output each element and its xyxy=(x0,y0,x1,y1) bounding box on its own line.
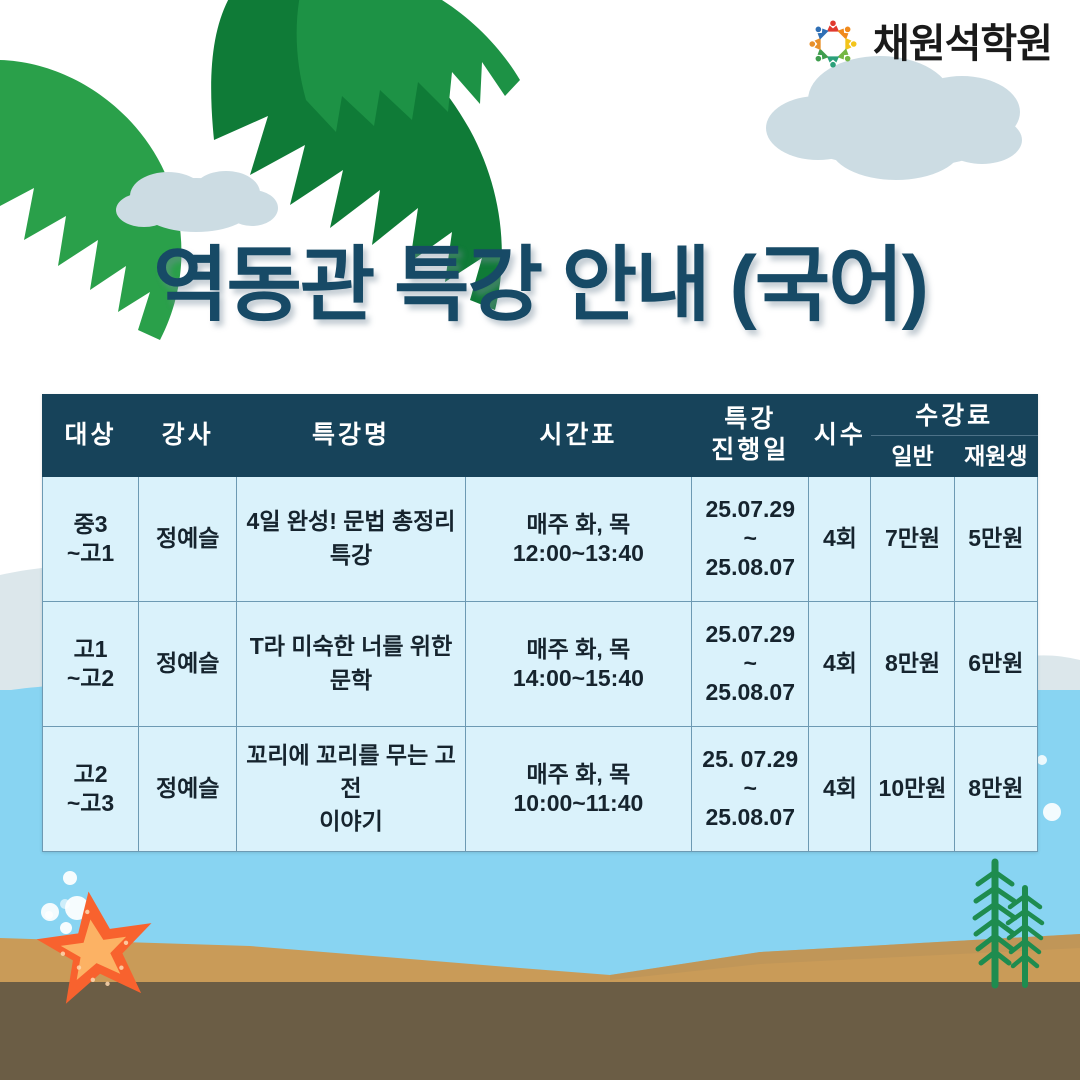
table-row: 중3 ~고1 정예슬 4일 완성! 문법 총정리 특강 매주 화, 목 12:0… xyxy=(43,476,1038,601)
schedule-table: 대상 강사 특강명 시간표 특강 진행일 시수 수강료 일반 재원생 xyxy=(42,394,1038,852)
col-header-course: 특강명 xyxy=(237,395,465,477)
cell-fee-general: 8만원 xyxy=(871,601,954,726)
sand-highlight xyxy=(610,934,1080,980)
date-start: 25.07.29 xyxy=(696,620,804,649)
circle-of-people-icon xyxy=(805,16,861,72)
col-header-target: 대상 xyxy=(43,395,139,477)
cell-course: 꼬리에 꼬리를 무는 고전 이야기 xyxy=(237,726,465,851)
cell-fee-enrolled: 6만원 xyxy=(954,601,1037,726)
cell-timetable: 매주 화, 목 14:00~15:40 xyxy=(465,601,691,726)
target-line2: ~고2 xyxy=(47,664,134,693)
seaweed-icon xyxy=(975,862,1042,985)
time-line1: 매주 화, 목 xyxy=(470,635,687,664)
brand-name: 채원석학원 xyxy=(873,24,1052,64)
cell-target: 고2 ~고3 xyxy=(43,726,139,851)
cloud-icon-small xyxy=(116,171,278,232)
table-row: 고1 ~고2 정예슬 T라 미숙한 너를 위한 문학 매주 화, 목 14:00… xyxy=(43,601,1038,726)
date-end: 25.08.07 xyxy=(696,678,804,707)
target-line1: 고1 xyxy=(47,635,134,664)
col-header-sessions: 시수 xyxy=(809,395,871,477)
target-line1: 고2 xyxy=(47,760,134,789)
cell-target: 중3 ~고1 xyxy=(43,476,139,601)
course-line1: T라 미숙한 너를 위한 문학 xyxy=(241,630,460,697)
cell-fee-general: 10만원 xyxy=(871,726,954,851)
cell-period: 25. 07.29 ~ 25.08.07 xyxy=(692,726,809,851)
cell-fee-enrolled: 8만원 xyxy=(954,726,1037,851)
col-header-fee-enrolled: 재원생 xyxy=(954,435,1037,476)
table-header: 대상 강사 특강명 시간표 특강 진행일 시수 수강료 일반 재원생 xyxy=(43,395,1038,477)
col-header-fee-group: 수강료 xyxy=(871,395,1038,436)
cell-period: 25.07.29 ~ 25.08.07 xyxy=(692,476,809,601)
date-separator: ~ xyxy=(696,649,804,678)
cell-teacher: 정예슬 xyxy=(139,726,237,851)
col-header-period: 특강 진행일 xyxy=(692,395,809,477)
cell-fee-general: 7만원 xyxy=(871,476,954,601)
cell-teacher: 정예슬 xyxy=(139,476,237,601)
col-header-teacher: 강사 xyxy=(139,395,237,477)
cloud-icon-large xyxy=(766,56,1022,180)
cell-course: T라 미숙한 너를 위한 문학 xyxy=(237,601,465,726)
page-title: 역동관 특강 안내 (국어) xyxy=(0,243,1080,329)
cell-period: 25.07.29 ~ 25.08.07 xyxy=(692,601,809,726)
date-end: 25.08.07 xyxy=(696,803,804,832)
time-line2: 12:00~13:40 xyxy=(470,539,687,568)
date-separator: ~ xyxy=(696,524,804,553)
time-line2: 10:00~11:40 xyxy=(470,789,687,818)
cell-teacher: 정예슬 xyxy=(139,601,237,726)
date-start: 25.07.29 xyxy=(696,495,804,524)
cell-sessions: 4회 xyxy=(809,726,871,851)
table-header-row-1: 대상 강사 특강명 시간표 특강 진행일 시수 수강료 xyxy=(43,395,1038,436)
bubbles-icon-right xyxy=(1037,755,1061,821)
target-line2: ~고3 xyxy=(47,789,134,818)
soil-layer xyxy=(0,982,1080,1080)
table-body: 중3 ~고1 정예슬 4일 완성! 문법 총정리 특강 매주 화, 목 12:0… xyxy=(43,476,1038,851)
target-line1: 중3 xyxy=(47,510,134,539)
target-line2: ~고1 xyxy=(47,539,134,568)
bubbles-icon-left xyxy=(41,871,89,934)
time-line2: 14:00~15:40 xyxy=(470,664,687,693)
schedule-table-container: 대상 강사 특강명 시간표 특강 진행일 시수 수강료 일반 재원생 xyxy=(42,394,1038,852)
cell-course: 4일 완성! 문법 총정리 특강 xyxy=(237,476,465,601)
cell-timetable: 매주 화, 목 10:00~11:40 xyxy=(465,726,691,851)
brand-logo: 채원석학원 xyxy=(805,16,1052,72)
col-header-timetable: 시간표 xyxy=(465,395,691,477)
col-header-fee-general: 일반 xyxy=(871,435,954,476)
time-line1: 매주 화, 목 xyxy=(470,760,687,789)
sand-layer xyxy=(0,934,1080,986)
date-start: 25. 07.29 xyxy=(696,745,804,774)
col-header-period-line1: 특강 xyxy=(694,404,806,435)
cell-sessions: 4회 xyxy=(809,601,871,726)
cell-timetable: 매주 화, 목 12:00~13:40 xyxy=(465,476,691,601)
col-header-period-line2: 진행일 xyxy=(694,435,806,466)
palm-frond-upper xyxy=(297,0,520,132)
time-line1: 매주 화, 목 xyxy=(470,510,687,539)
cell-target: 고1 ~고2 xyxy=(43,601,139,726)
poster-canvas: 채원석학원 역동관 특강 안내 (국어) 대상 강사 특강명 시간표 특강 진행… xyxy=(0,0,1080,1080)
starfish-icon xyxy=(31,883,161,1006)
date-end: 25.08.07 xyxy=(696,553,804,582)
table-row: 고2 ~고3 정예슬 꼬리에 꼬리를 무는 고전 이야기 매주 화, 목 10:… xyxy=(43,726,1038,851)
cell-sessions: 4회 xyxy=(809,476,871,601)
course-line1: 꼬리에 꼬리를 무는 고전 xyxy=(241,739,460,806)
course-line1: 4일 완성! 문법 총정리 특강 xyxy=(241,505,460,572)
course-line2: 이야기 xyxy=(241,805,460,838)
date-separator: ~ xyxy=(696,774,804,803)
cell-fee-enrolled: 5만원 xyxy=(954,476,1037,601)
